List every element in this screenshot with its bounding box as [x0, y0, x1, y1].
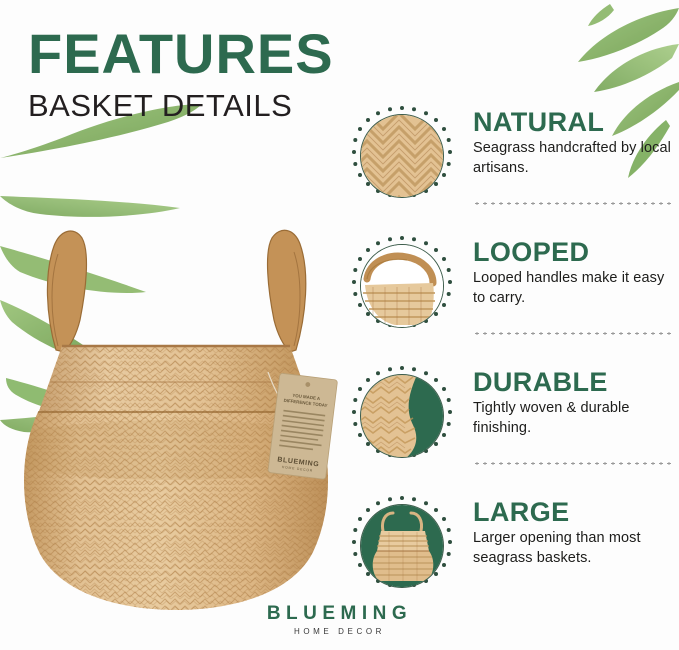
page-title: FEATURES — [28, 26, 334, 82]
feature-large-text: LARGE Larger opening than most seagrass … — [473, 498, 678, 568]
feature-looped-title: LOOPED — [473, 238, 678, 266]
feature-durable: DURABLE Tightly woven & durable finishin… — [345, 360, 679, 468]
feature-divider — [473, 202, 673, 205]
brand-logo: BLUEMING HOME DECOR — [0, 604, 679, 636]
feature-durable-text: DURABLE Tightly woven & durable finishin… — [473, 368, 678, 438]
hang-tag: YOU MADE A DIFFERENCE TODAY BLUEMING HOM… — [268, 372, 338, 479]
feature-natural-title: NATURAL — [473, 108, 678, 136]
feature-natural-description: Seagrass handcrafted by local artisans. — [473, 139, 678, 178]
feature-large-title: LARGE — [473, 498, 678, 526]
feature-looped-icon-wrap — [350, 234, 454, 338]
feature-natural-icon-wrap — [350, 104, 454, 208]
feature-durable-image — [360, 374, 444, 458]
feature-large-image — [360, 504, 444, 588]
feature-large: LARGE Larger opening than most seagrass … — [345, 490, 679, 598]
feature-looped: LOOPED Looped handles make it easy to ca… — [345, 230, 679, 338]
header-block: FEATURES BASKET DETAILS — [28, 26, 334, 121]
feature-large-icon-wrap — [350, 494, 454, 598]
feature-natural-text: NATURAL Seagrass handcrafted by local ar… — [473, 108, 678, 178]
basket-handle-left — [47, 231, 86, 352]
feature-durable-description: Tightly woven & durable finishing. — [473, 399, 678, 438]
feature-looped-image — [360, 244, 444, 328]
feature-looped-description: Looped handles make it easy to carry. — [473, 269, 678, 308]
feature-natural-image — [360, 114, 444, 198]
feature-divider — [473, 462, 673, 465]
brand-name: BLUEMING — [0, 604, 679, 623]
infographic-page: FEATURES BASKET DETAILS — [0, 0, 679, 650]
product-photo: YOU MADE A DIFFERENCE TODAY BLUEMING HOM… — [0, 150, 350, 610]
brand-tagline: HOME DECOR — [0, 628, 679, 636]
feature-divider — [473, 332, 673, 335]
basket-handle-right — [268, 230, 306, 352]
page-subtitle: BASKET DETAILS — [28, 90, 334, 121]
feature-durable-title: DURABLE — [473, 368, 678, 396]
feature-large-description: Larger opening than most seagrass basket… — [473, 529, 678, 568]
feature-durable-icon-wrap — [350, 364, 454, 468]
features-list: NATURAL Seagrass handcrafted by local ar… — [345, 100, 679, 598]
feature-looped-text: LOOPED Looped handles make it easy to ca… — [473, 238, 678, 308]
feature-natural: NATURAL Seagrass handcrafted by local ar… — [345, 100, 679, 208]
